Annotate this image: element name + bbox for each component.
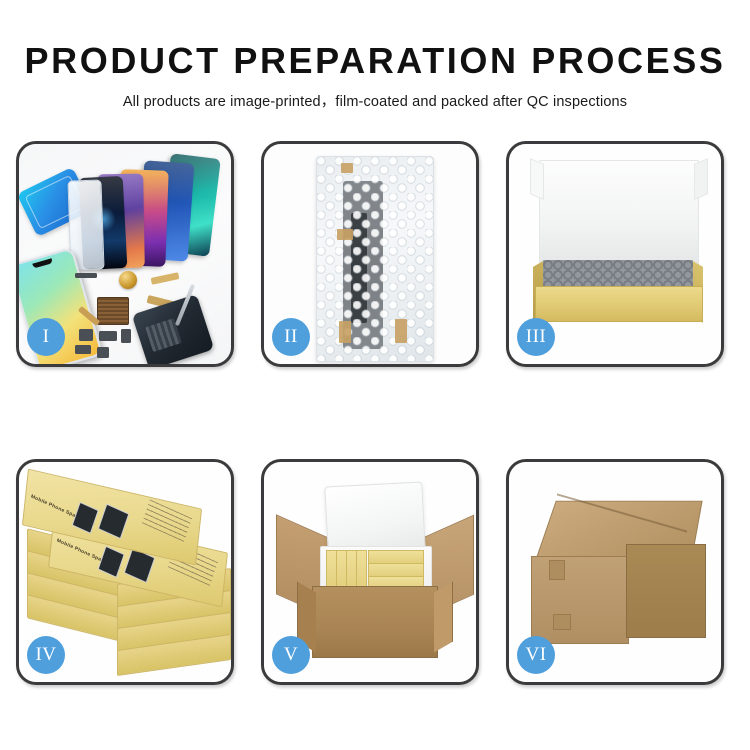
step-badge-4: IV bbox=[27, 636, 65, 674]
step-badge-1: I bbox=[27, 318, 65, 356]
step-panel-3[interactable]: III bbox=[506, 141, 724, 367]
step-panel-2[interactable]: II bbox=[261, 141, 479, 367]
step-panel-5[interactable]: V bbox=[261, 459, 479, 685]
inner-yellow-box-4 bbox=[356, 550, 367, 588]
tape-piece-3 bbox=[339, 321, 351, 343]
bubble-texture bbox=[317, 157, 433, 361]
process-steps-grid: I II bbox=[16, 141, 734, 686]
tape-piece-2 bbox=[337, 229, 353, 240]
step-panel-4[interactable]: Mobile Phone Spare Parts Mobile Phone Sp… bbox=[16, 459, 234, 685]
bubble-wrap-bag bbox=[316, 156, 434, 362]
carton-side-face bbox=[626, 544, 706, 638]
carton-tape-upper bbox=[549, 560, 565, 580]
inner-yellow-box-6 bbox=[368, 563, 424, 577]
small-part-b bbox=[79, 329, 93, 341]
box-label-phone-2 bbox=[98, 504, 130, 540]
carton-front-face bbox=[531, 556, 629, 644]
step-panel-1[interactable]: I bbox=[16, 141, 234, 367]
small-part-f bbox=[97, 347, 109, 358]
tape-piece-1 bbox=[341, 163, 353, 173]
bubble-padding-layer bbox=[543, 260, 693, 288]
step-panel-6[interactable]: VI bbox=[506, 459, 724, 685]
spare-parts-cluster bbox=[75, 269, 205, 364]
foam-box-lid bbox=[324, 481, 425, 554]
step-badge-3: III bbox=[517, 318, 555, 356]
page-title: PRODUCT PREPARATION PROCESS bbox=[0, 0, 750, 80]
step-badge-2: II bbox=[272, 318, 310, 356]
yellow-box-front bbox=[535, 286, 703, 322]
speaker-part-icon bbox=[119, 271, 137, 289]
flex-cable-1 bbox=[151, 272, 180, 285]
screw-grid-part bbox=[97, 297, 129, 325]
small-part-d bbox=[121, 329, 131, 343]
small-part-a bbox=[75, 273, 97, 278]
box-label-phone-3 bbox=[98, 546, 125, 578]
step-badge-6: VI bbox=[517, 636, 555, 674]
header: PRODUCT PREPARATION PROCESS All products… bbox=[0, 0, 750, 111]
sealed-carton bbox=[527, 498, 707, 648]
carton-body bbox=[312, 586, 438, 658]
inner-yellow-box-5 bbox=[368, 550, 424, 564]
small-part-c bbox=[99, 331, 117, 341]
product-preparation-infographic: PRODUCT PREPARATION PROCESS All products… bbox=[0, 0, 750, 750]
white-foam-lid bbox=[539, 160, 699, 266]
yellow-boxes-inside bbox=[326, 550, 424, 588]
phone-back-housing bbox=[132, 294, 215, 364]
step-badge-5: V bbox=[272, 636, 310, 674]
tape-piece-4 bbox=[395, 319, 407, 343]
phone-screen-fan bbox=[81, 158, 231, 266]
box-label-lines-1 bbox=[142, 499, 192, 541]
carton-tape-lower bbox=[553, 614, 571, 630]
bottom-whitespace bbox=[0, 690, 750, 750]
page-subtitle: All products are image-printed，film-coat… bbox=[0, 80, 750, 111]
box-label-phone-1 bbox=[72, 502, 99, 534]
small-part-e bbox=[75, 345, 91, 354]
